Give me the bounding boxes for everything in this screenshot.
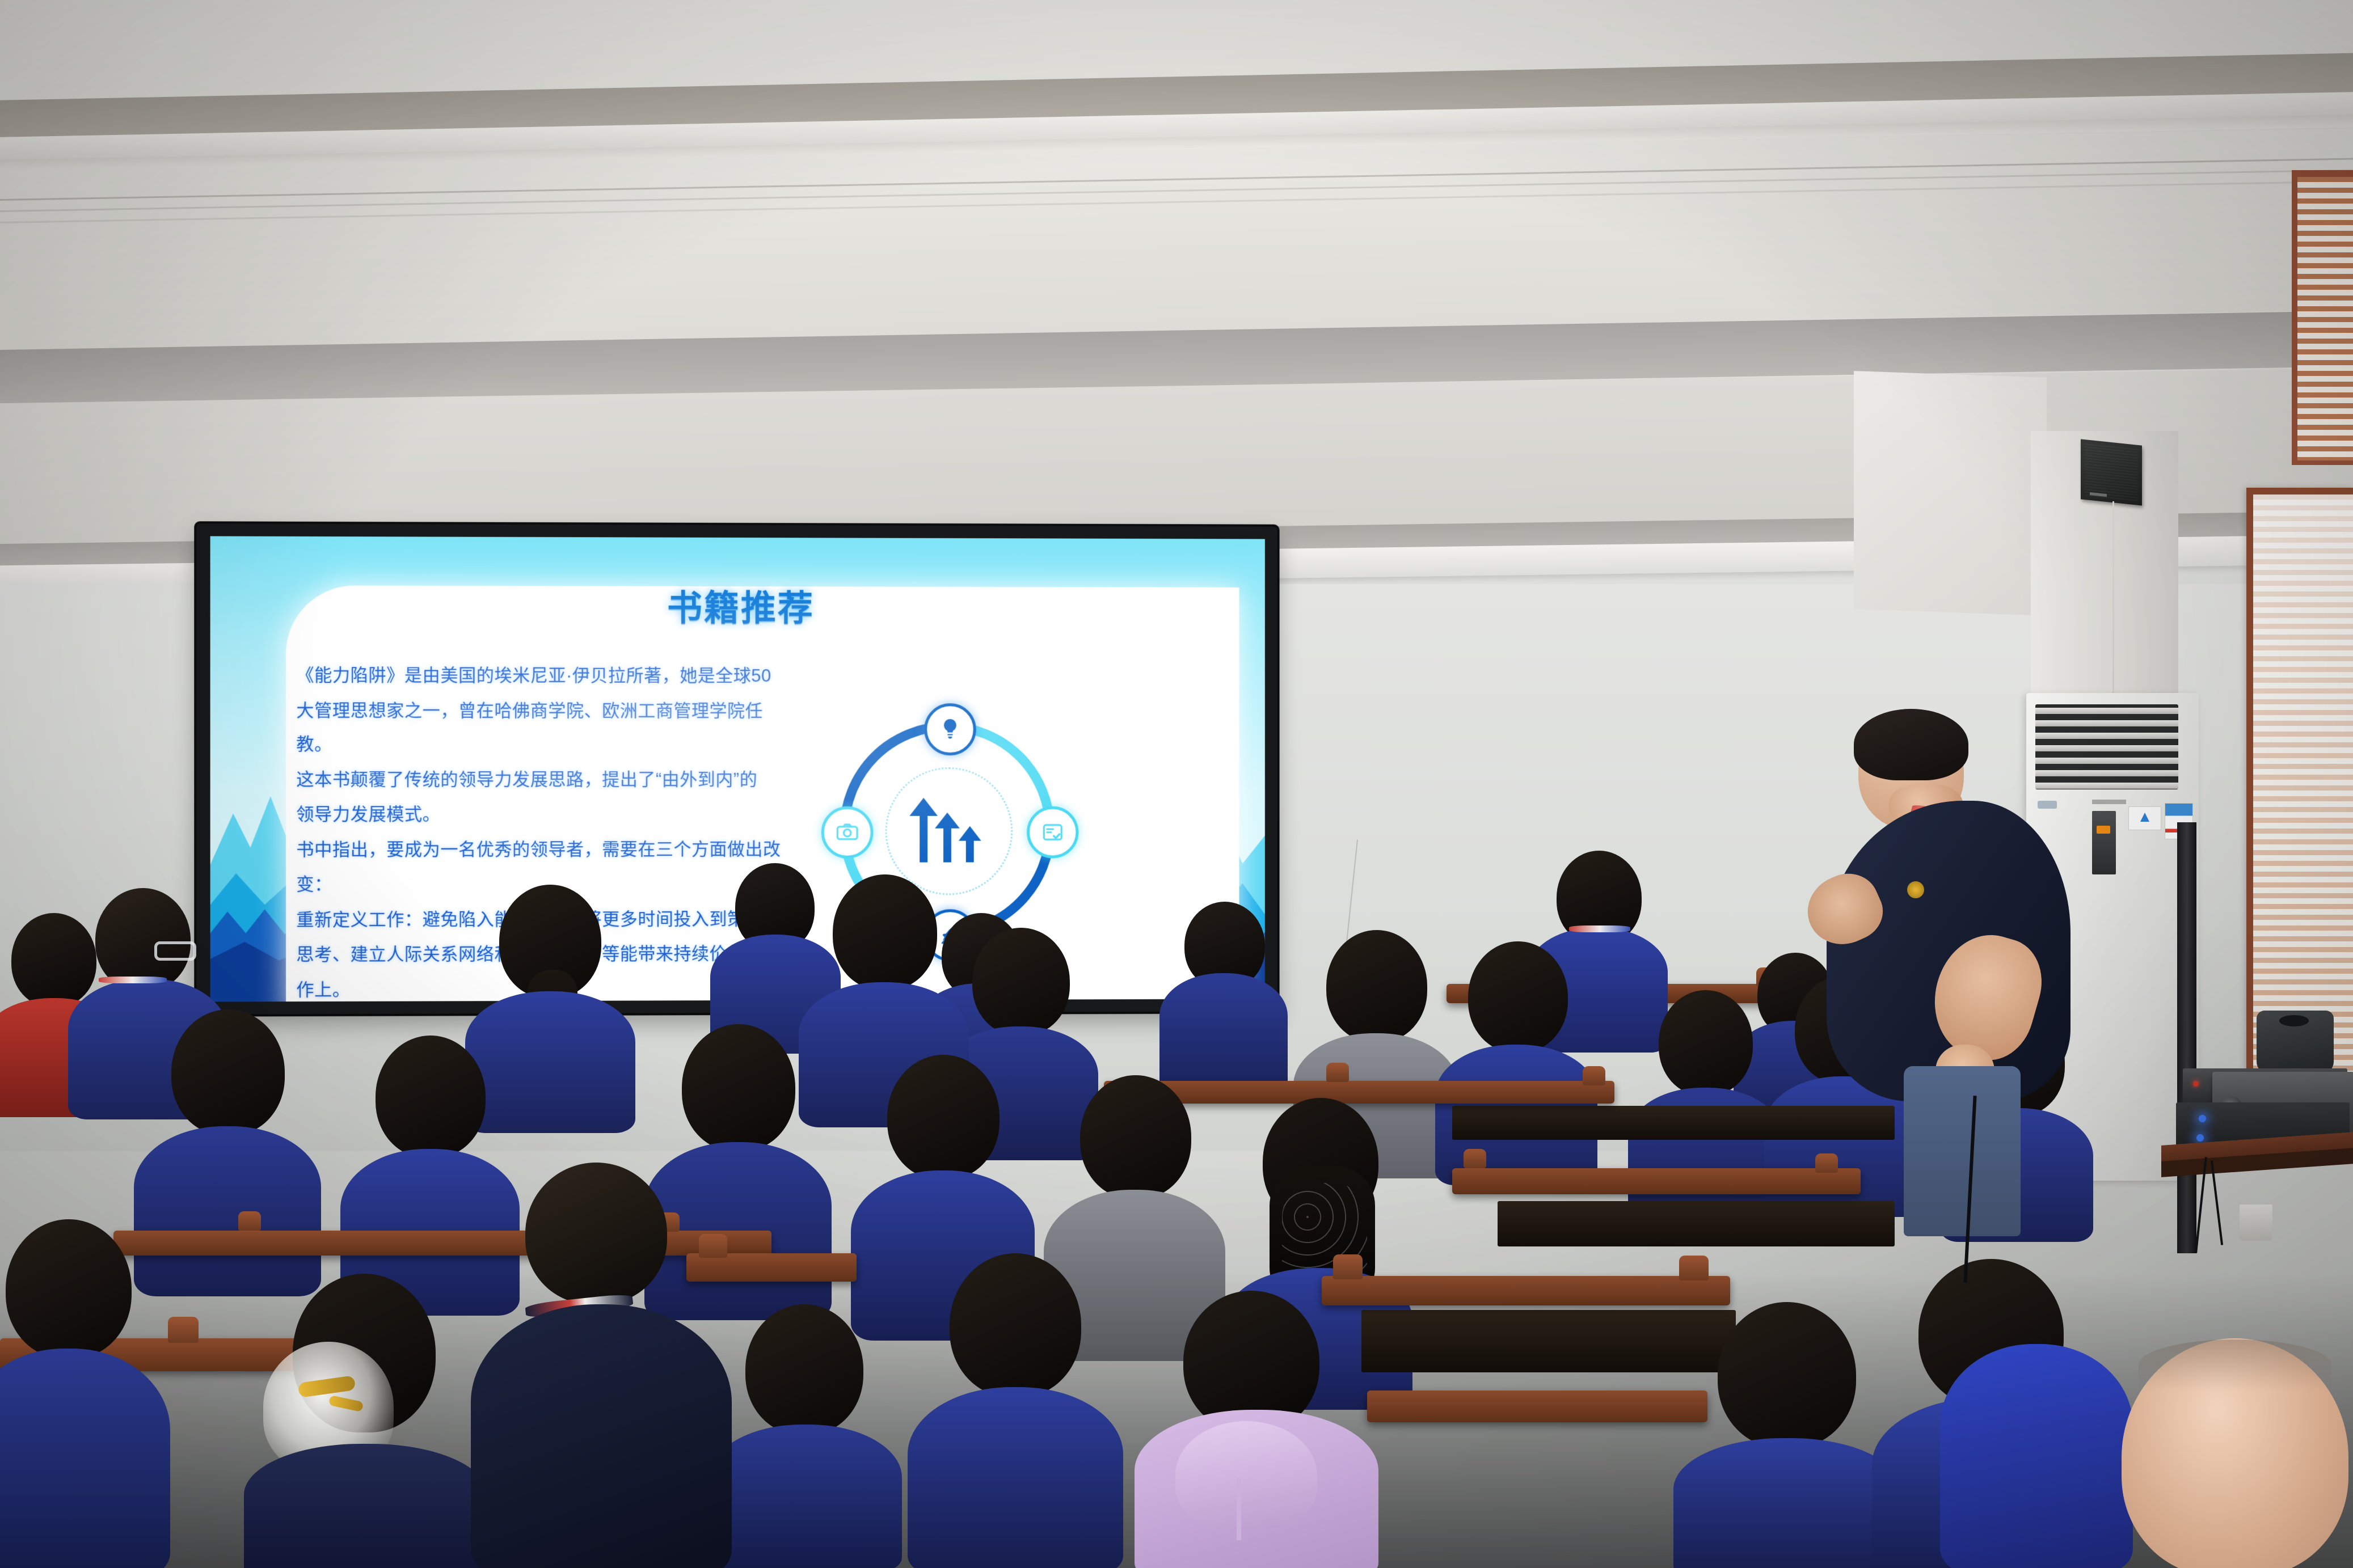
slide-paragraph: 大管理思想家之一，曾在哈佛商学院、欧洲工商管理学院任教。 [296, 694, 786, 762]
presenter [1804, 716, 2099, 1237]
paper-cup[interactable] [2240, 1204, 2272, 1241]
slide-paragraph: 思考、建立人际关系网络和提升影响力等能带来持续价值的工 [296, 937, 786, 972]
infographic-node-top [924, 703, 976, 755]
wall-speaker [2081, 439, 2142, 505]
amplifier-power-led-icon [2193, 1081, 2199, 1087]
infographic-node-bottom [924, 909, 976, 961]
presentation-display[interactable]: 书籍推荐 《能力陷阱》是由美国的埃米尼亚·伊贝拉所著，她是全球50 大管理思想家… [196, 523, 1277, 1014]
slide-paragraph: 这本书颠覆了传统的领导力发展思路，提出了“由外到内”的 [296, 762, 786, 796]
window-pane [2253, 495, 2353, 1082]
window-daylight-glow [2253, 495, 2353, 1082]
display-screen: 书籍推荐 《能力陷阱》是由美国的埃米尼亚·伊贝拉所著，她是全球50 大管理思想家… [210, 536, 1265, 1001]
window-blinds-upper [2297, 177, 2353, 460]
document-check-icon [1040, 820, 1065, 845]
lightbulb-icon [938, 717, 963, 742]
slide-paragraph: 作上。 [296, 971, 786, 1001]
rack-status-led-icon-1 [2199, 1115, 2206, 1122]
presenter-chest-emblem [1907, 881, 1924, 898]
infographic-node-right [1027, 806, 1078, 859]
slide-paragraph: 重新定义工作：避免陷入能力陷阱，将更多时间投入到策略性 [296, 902, 786, 936]
infographic-node-left [821, 806, 874, 859]
slide-paragraph: 书中指出，要成为一名优秀的领导者，需要在三个方面做出改 [296, 832, 786, 867]
slide-body-text: 《能力陷阱》是由美国的埃米尼亚·伊贝拉所著，她是全球50 大管理思想家之一，曾在… [296, 658, 786, 1002]
slide-infographic [826, 708, 1069, 952]
ceiling-soffit-return [1854, 371, 2047, 616]
presenter-hair [1854, 709, 1968, 780]
presenter-trousers [1904, 1066, 2021, 1236]
slide-paragraph: 领导力发展模式。 [296, 797, 786, 831]
slide-paragraph: 变： [296, 867, 786, 902]
camera-icon [835, 820, 860, 845]
rack-status-led-icon-2 [2196, 1134, 2204, 1142]
slide-title: 书籍推荐 [210, 578, 1265, 632]
presentation-room-photo: 书籍推荐 《能力陷阱》是由美国的埃米尼亚·伊贝拉所著，她是全球50 大管理思想家… [0, 0, 2353, 1568]
growth-arrows-icon [905, 796, 989, 864]
av-rack-post [2177, 822, 2196, 1253]
slide-paragraph: 《能力陷阱》是由美国的埃米尼亚·伊贝拉所著，她是全球50 [296, 658, 786, 693]
ac-warning-sticker [2128, 806, 2161, 830]
infographic-center-art [885, 767, 1009, 892]
rocket-icon [938, 923, 963, 948]
electric-kettle[interactable] [2257, 1011, 2334, 1074]
